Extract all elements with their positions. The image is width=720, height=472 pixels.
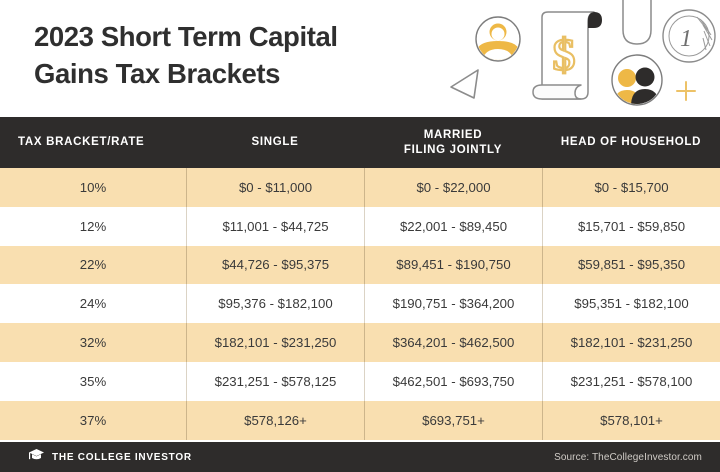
cell-married-filing-jointly: $190,751 - $364,200 xyxy=(364,284,542,323)
cell-head-of-household: $578,101+ xyxy=(542,401,720,440)
page-title: 2023 Short Term Capital Gains Tax Bracke… xyxy=(34,19,454,92)
illustration-cluster: $ 1 xyxy=(418,0,720,117)
person-avatar-circle-icon xyxy=(476,17,520,62)
plus-sparkle-icon xyxy=(677,82,695,100)
table-body: 10% $0 - $11,000 $0 - $22,000 $0 - $15,7… xyxy=(0,168,720,440)
cell-rate: 22% xyxy=(0,246,186,285)
table-row: 37% $578,126+ $693,751+ $578,101+ xyxy=(0,401,720,440)
cell-rate: 37% xyxy=(0,401,186,440)
graduation-cap-icon xyxy=(28,448,45,467)
cell-single: $11,001 - $44,725 xyxy=(186,207,364,246)
brand-lockup: THE COLLEGE INVESTOR xyxy=(28,448,192,467)
page-title-line-2: Gains Tax Brackets xyxy=(34,56,454,93)
cell-married-filing-jointly: $693,751+ xyxy=(364,401,542,440)
cell-head-of-household: $182,101 - $231,250 xyxy=(542,323,720,362)
cell-head-of-household: $95,351 - $182,100 xyxy=(542,284,720,323)
cell-head-of-household: $15,701 - $59,850 xyxy=(542,207,720,246)
cell-head-of-household: $0 - $15,700 xyxy=(542,168,720,207)
two-people-circle-icon xyxy=(612,55,662,106)
cell-single: $182,101 - $231,250 xyxy=(186,323,364,362)
footer-bar: THE COLLEGE INVESTOR Source: TheCollegeI… xyxy=(0,442,720,472)
cell-single: $231,251 - $578,125 xyxy=(186,362,364,401)
rounded-u-shape-icon xyxy=(623,0,651,44)
column-header-head-of-household: HEAD OF HOUSEHOLD xyxy=(542,135,720,149)
cell-single: $44,726 - $95,375 xyxy=(186,246,364,285)
column-header-married-line-1: MARRIED xyxy=(424,129,483,141)
cell-married-filing-jointly: $0 - $22,000 xyxy=(364,168,542,207)
svg-text:1: 1 xyxy=(680,26,692,52)
paper-plane-icon xyxy=(451,70,478,98)
tax-bracket-table: TAX BRACKET/RATE SINGLE MARRIED FILING J… xyxy=(0,117,720,440)
column-header-married-line-2: FILING JOINTLY xyxy=(404,144,502,156)
infographic-root: 2023 Short Term Capital Gains Tax Bracke… xyxy=(0,0,720,472)
table-row: 10% $0 - $11,000 $0 - $22,000 $0 - $15,7… xyxy=(0,168,720,207)
source-credit: Source: TheCollegeInvestor.com xyxy=(554,452,702,463)
cell-rate: 32% xyxy=(0,323,186,362)
cell-head-of-household: $231,251 - $578,100 xyxy=(542,362,720,401)
table-row: 22% $44,726 - $95,375 $89,451 - $190,750… xyxy=(0,246,720,285)
cell-rate: 12% xyxy=(0,207,186,246)
cell-rate: 35% xyxy=(0,362,186,401)
cell-married-filing-jointly: $89,451 - $190,750 xyxy=(364,246,542,285)
cell-single: $0 - $11,000 xyxy=(186,168,364,207)
cell-married-filing-jointly: $22,001 - $89,450 xyxy=(364,207,542,246)
column-header-married-filing-jointly: MARRIED FILING JOINTLY xyxy=(364,128,542,157)
svg-text:$: $ xyxy=(553,29,576,80)
title-zone: 2023 Short Term Capital Gains Tax Bracke… xyxy=(0,0,720,117)
table-row: 35% $231,251 - $578,125 $462,501 - $693,… xyxy=(0,362,720,401)
cell-head-of-household: $59,851 - $95,350 xyxy=(542,246,720,285)
page-title-line-1: 2023 Short Term Capital xyxy=(34,19,454,56)
cell-rate: 10% xyxy=(0,168,186,207)
table-row: 24% $95,376 - $182,100 $190,751 - $364,2… xyxy=(0,284,720,323)
column-header-single: SINGLE xyxy=(186,135,364,149)
cell-single: $95,376 - $182,100 xyxy=(186,284,364,323)
coin-one-icon: 1 xyxy=(663,10,715,62)
cell-married-filing-jointly: $364,201 - $462,500 xyxy=(364,323,542,362)
cell-married-filing-jointly: $462,501 - $693,750 xyxy=(364,362,542,401)
table-row: 32% $182,101 - $231,250 $364,201 - $462,… xyxy=(0,323,720,362)
cell-rate: 24% xyxy=(0,284,186,323)
cell-single: $578,126+ xyxy=(186,401,364,440)
table-header-row: TAX BRACKET/RATE SINGLE MARRIED FILING J… xyxy=(0,117,720,168)
dollar-scroll-icon: $ xyxy=(533,12,602,99)
brand-name: THE COLLEGE INVESTOR xyxy=(52,452,192,463)
column-header-tax-bracket-rate: TAX BRACKET/RATE xyxy=(0,135,186,149)
table-row: 12% $11,001 - $44,725 $22,001 - $89,450 … xyxy=(0,207,720,246)
